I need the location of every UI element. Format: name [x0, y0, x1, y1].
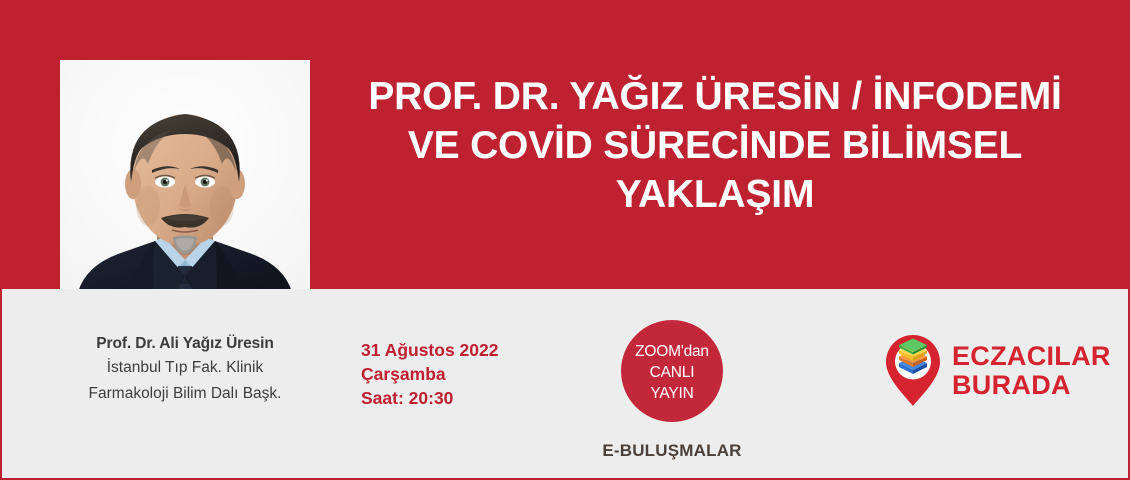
brand-name: ECZACILAR BURADA — [952, 342, 1111, 400]
speaker-affiliation-line-2: Farmakoloji Bilim Dalı Başk. — [20, 381, 350, 407]
speaker-portrait-photo — [60, 60, 310, 310]
zoom-badge-line-1: ZOOM'dan — [635, 341, 709, 362]
title-line-3: YAKLAŞIM — [330, 170, 1100, 219]
zoom-live-badge: ZOOM'dan CANLI YAYIN — [621, 320, 723, 422]
banner-title: PROF. DR. YAĞIZ ÜRESİN / İNFODEMİ VE COV… — [330, 72, 1100, 219]
title-line-2: VE COVİD SÜRECİNDE BİLİMSEL — [330, 121, 1100, 170]
event-day: Çarşamba — [361, 362, 498, 386]
brand-name-line-1: ECZACILAR — [952, 342, 1111, 371]
portrait-illustration — [60, 60, 310, 310]
event-datetime-block: 31 Ağustos 2022 Çarşamba Saat: 20:30 — [361, 338, 498, 410]
speaker-info-block: Prof. Dr. Ali Yağız Üresin İstanbul Tıp … — [20, 333, 350, 407]
event-time: Saat: 20:30 — [361, 386, 498, 410]
speaker-name: Prof. Dr. Ali Yağız Üresin — [20, 333, 350, 355]
event-date: 31 Ağustos 2022 — [361, 338, 498, 362]
zoom-live-badge-block: ZOOM'dan CANLI YAYIN E-BULUŞMALAR — [586, 320, 758, 461]
zoom-badge-line-3: YAYIN — [650, 383, 693, 404]
webinar-announcement-banner: PROF. DR. YAĞIZ ÜRESİN / İNFODEMİ VE COV… — [0, 0, 1130, 480]
zoom-badge-line-2: CANLI — [650, 362, 695, 383]
title-line-1: PROF. DR. YAĞIZ ÜRESİN / İNFODEMİ — [330, 72, 1100, 121]
map-pin-layers-icon — [884, 334, 942, 408]
brand-name-line-2: BURADA — [952, 371, 1111, 400]
eczacilar-burada-logo: ECZACILAR BURADA — [884, 334, 1111, 408]
ebulusmalar-caption: E-BULUŞMALAR — [586, 441, 758, 461]
speaker-affiliation-line-1: İstanbul Tıp Fak. Klinik — [20, 355, 350, 381]
